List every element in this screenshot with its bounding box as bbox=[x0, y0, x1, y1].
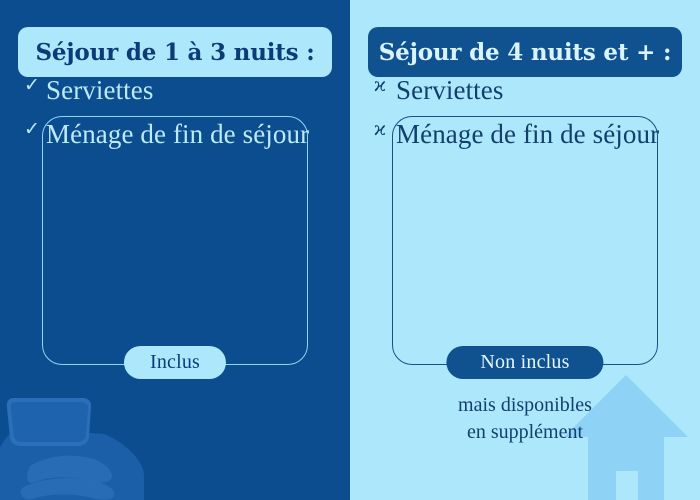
list-item-label: Serviettes bbox=[396, 73, 503, 108]
list-item-label: Ménage de fin de séjour bbox=[396, 117, 659, 152]
note-line: mais disponibles bbox=[350, 392, 700, 419]
right-header-pill: Séjour de 4 nuits et + : bbox=[368, 27, 682, 77]
list-item-label: Serviettes bbox=[46, 73, 153, 108]
right-list-card bbox=[392, 116, 658, 365]
comparison-poster: Séjour de 1 à 3 nuits : ✓ Draps ✓ Servie… bbox=[0, 0, 700, 500]
list-item: ϰ Serviettes bbox=[374, 73, 690, 108]
list-item: ✓ Serviettes bbox=[24, 73, 340, 108]
left-status-label: Inclus bbox=[150, 351, 200, 374]
right-badge-note: mais disponibles en supplément bbox=[350, 392, 700, 445]
check-icon: ✓ bbox=[24, 117, 46, 141]
panel-long-stay: Séjour de 4 nuits et + : ϰ Draps ϰ Servi… bbox=[350, 0, 700, 500]
left-list-card bbox=[42, 116, 308, 365]
panel-short-stay: Séjour de 1 à 3 nuits : ✓ Draps ✓ Servie… bbox=[0, 0, 350, 500]
cross-icon: ϰ bbox=[374, 117, 396, 141]
left-status-badge: Inclus bbox=[124, 346, 226, 379]
list-item: ϰ Ménage de fin de séjour bbox=[374, 117, 690, 152]
linens-illustration bbox=[0, 380, 154, 500]
right-status-label: Non inclus bbox=[480, 351, 569, 374]
right-header-title: Séjour de 4 nuits et + : bbox=[379, 39, 671, 66]
list-item: ✓ Ménage de fin de séjour bbox=[24, 117, 340, 152]
left-header-title: Séjour de 1 à 3 nuits : bbox=[35, 39, 314, 66]
note-line: en supplément bbox=[350, 419, 700, 446]
right-status-badge: Non inclus bbox=[446, 346, 603, 379]
left-header-pill: Séjour de 1 à 3 nuits : bbox=[18, 27, 332, 77]
list-item-label: Ménage de fin de séjour bbox=[46, 117, 309, 152]
